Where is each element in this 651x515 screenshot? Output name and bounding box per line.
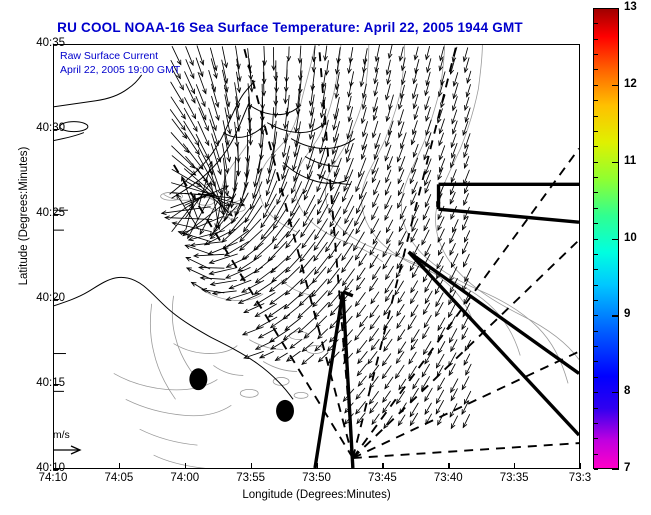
current-vector bbox=[359, 158, 366, 177]
current-vector bbox=[438, 243, 444, 255]
map-canvas bbox=[54, 45, 579, 468]
colorbar-minor-tick bbox=[594, 423, 598, 424]
current-vector bbox=[254, 242, 273, 260]
current-vector bbox=[315, 219, 328, 240]
current-vector bbox=[356, 388, 365, 399]
current-vector bbox=[201, 278, 225, 279]
current-vector bbox=[369, 329, 378, 342]
current-vector bbox=[286, 255, 302, 273]
current-vector bbox=[304, 180, 313, 200]
current-vector bbox=[451, 340, 457, 352]
current-vector bbox=[396, 352, 403, 363]
x-tick-mark bbox=[382, 463, 383, 469]
x-tick-label: 74:10 bbox=[23, 472, 83, 484]
y-tick-mark bbox=[53, 214, 59, 215]
x-tick-label: 74:05 bbox=[89, 472, 149, 484]
current-vector bbox=[438, 413, 444, 424]
current-vector bbox=[371, 219, 379, 234]
colorbar-tick-mark bbox=[612, 162, 619, 163]
colorbar-minor-tick bbox=[594, 239, 598, 240]
current-vector bbox=[331, 217, 341, 234]
current-vector bbox=[448, 316, 455, 329]
current-vector bbox=[438, 341, 445, 353]
current-vector bbox=[373, 231, 380, 244]
current-vector bbox=[462, 318, 468, 330]
current-vector bbox=[262, 110, 263, 134]
current-vector bbox=[369, 391, 378, 403]
x-tick-mark bbox=[251, 463, 252, 469]
current-vector bbox=[259, 328, 277, 338]
current-vector bbox=[462, 328, 468, 339]
current-vector bbox=[448, 304, 455, 317]
colorbar-minor-tick bbox=[594, 69, 598, 70]
current-vector bbox=[385, 196, 391, 209]
current-vector bbox=[451, 254, 458, 268]
current-vector bbox=[316, 316, 327, 327]
current-vector bbox=[300, 255, 314, 272]
current-vector bbox=[425, 388, 432, 401]
current-vector bbox=[185, 72, 195, 94]
current-vector bbox=[196, 134, 208, 158]
current-vector bbox=[411, 193, 416, 205]
current-vector bbox=[425, 403, 431, 414]
colorbar-tick-mark bbox=[612, 315, 619, 316]
current-vector bbox=[186, 84, 195, 103]
colorbar-minor-tick bbox=[594, 100, 598, 101]
colorbar-minor-tick bbox=[594, 469, 598, 470]
current-vector bbox=[209, 158, 222, 195]
current-vector bbox=[382, 366, 391, 379]
current-vector bbox=[383, 244, 390, 257]
plot-area[interactable]: Raw Surface Current April 22, 2005 19:00… bbox=[53, 44, 580, 469]
current-vector bbox=[356, 402, 366, 414]
current-vector bbox=[411, 281, 418, 293]
current-vector bbox=[374, 181, 380, 195]
colorbar-minor-tick bbox=[594, 254, 598, 255]
current-vector bbox=[368, 352, 377, 364]
current-vector bbox=[226, 293, 250, 300]
current-vector bbox=[463, 254, 469, 266]
colorbar-minor-tick bbox=[594, 377, 598, 378]
current-vector bbox=[463, 414, 469, 427]
current-vector bbox=[332, 183, 341, 203]
current-vector bbox=[397, 304, 404, 315]
current-vector bbox=[438, 229, 444, 242]
current-vector bbox=[425, 291, 432, 303]
radar-beam-solid-lines bbox=[315, 184, 579, 468]
current-vector bbox=[370, 255, 378, 268]
current-vector bbox=[371, 339, 379, 350]
current-vector bbox=[451, 416, 457, 428]
x-tick-mark bbox=[317, 463, 318, 469]
current-vector bbox=[383, 401, 391, 412]
colorbar-minor-tick bbox=[594, 346, 598, 347]
current-vector bbox=[271, 257, 288, 273]
current-vector bbox=[186, 257, 210, 268]
x-tick-label: 73:3 bbox=[550, 472, 610, 484]
current-vector bbox=[212, 96, 219, 120]
page-title: RU COOL NOAA-16 Sea Surface Temperature:… bbox=[0, 20, 580, 35]
current-vector bbox=[398, 415, 405, 425]
colorbar-tick-label: 9 bbox=[624, 308, 630, 320]
current-vector bbox=[209, 268, 236, 274]
x-tick-label: 74:00 bbox=[155, 472, 215, 484]
current-vector bbox=[422, 230, 429, 245]
current-vector bbox=[225, 242, 249, 256]
current-vector bbox=[314, 232, 326, 250]
x-tick-label: 73:45 bbox=[352, 472, 412, 484]
current-vector bbox=[313, 267, 326, 283]
current-vector bbox=[355, 327, 365, 340]
current-vector bbox=[270, 291, 287, 304]
scale-legend-label: 50 cm/s bbox=[53, 429, 85, 441]
colorbar-tick-mark bbox=[612, 469, 619, 470]
current-vector bbox=[384, 339, 392, 351]
current-vector bbox=[261, 220, 277, 239]
current-vector bbox=[436, 390, 443, 403]
current-vector bbox=[370, 305, 379, 317]
current-vector bbox=[211, 181, 219, 229]
current-vector bbox=[423, 327, 430, 338]
colorbar-minor-tick bbox=[594, 315, 598, 316]
x-tick-label: 73:55 bbox=[221, 472, 281, 484]
colorbar-minor-tick bbox=[594, 54, 598, 55]
current-vector bbox=[413, 244, 419, 256]
y-tick-mark bbox=[53, 384, 59, 385]
colorbar-minor-tick bbox=[594, 285, 598, 286]
colorbar-tick-label: 11 bbox=[624, 155, 636, 167]
colorbar-tick-label: 10 bbox=[624, 232, 637, 244]
current-vector bbox=[409, 352, 416, 364]
current-vector bbox=[196, 96, 206, 119]
colorbar-minor-tick bbox=[594, 131, 598, 132]
current-vector bbox=[464, 170, 470, 184]
current-vector bbox=[235, 182, 248, 216]
colorbar-minor-tick bbox=[594, 177, 598, 178]
y-tick-label: 40:15 bbox=[19, 377, 65, 389]
current-vector bbox=[302, 342, 313, 351]
current-vector bbox=[360, 182, 368, 199]
current-vector bbox=[358, 352, 367, 364]
current-vector bbox=[360, 316, 368, 326]
x-tick-mark bbox=[119, 463, 120, 469]
current-vector bbox=[191, 282, 210, 293]
colorbar-minor-tick bbox=[594, 39, 598, 40]
x-tick-mark bbox=[580, 463, 581, 469]
current-vector bbox=[383, 391, 391, 402]
current-vector bbox=[399, 232, 406, 246]
x-tick-label: 73:40 bbox=[418, 472, 478, 484]
current-vector bbox=[412, 158, 418, 173]
colorbar-minor-tick bbox=[594, 162, 598, 163]
current-vector bbox=[223, 158, 227, 196]
x-tick-label: 73:35 bbox=[484, 472, 544, 484]
current-vector bbox=[382, 354, 390, 366]
colorbar-minor-tick bbox=[594, 361, 598, 362]
current-vector bbox=[424, 315, 431, 327]
current-vector bbox=[387, 232, 393, 244]
current-vector bbox=[184, 108, 197, 131]
y-tick-mark bbox=[53, 129, 59, 130]
current-vector bbox=[268, 304, 286, 317]
colorbar-minor-tick bbox=[594, 116, 598, 117]
colorbar-tick-mark bbox=[612, 85, 619, 86]
current-vector bbox=[208, 242, 237, 254]
current-vector bbox=[437, 366, 443, 377]
current-vector bbox=[386, 266, 394, 279]
current-vector bbox=[357, 340, 367, 353]
current-vector bbox=[371, 292, 379, 304]
current-vector bbox=[437, 256, 443, 268]
current-vector bbox=[424, 219, 429, 231]
current-vector bbox=[254, 229, 274, 250]
current-vector bbox=[397, 316, 405, 328]
current-vector bbox=[308, 159, 315, 179]
current-vector bbox=[383, 255, 391, 268]
current-vector bbox=[385, 145, 391, 161]
current-vector bbox=[357, 305, 366, 317]
radar-beam-dashed-lines bbox=[174, 45, 579, 458]
colorbar-minor-tick bbox=[594, 223, 598, 224]
current-vector bbox=[413, 379, 419, 389]
current-vector bbox=[357, 364, 366, 376]
current-vector bbox=[372, 158, 378, 174]
current-vector bbox=[423, 303, 429, 314]
current-vector bbox=[411, 330, 419, 343]
current-vector bbox=[422, 364, 429, 377]
current-vector bbox=[211, 280, 237, 284]
current-vector bbox=[227, 257, 249, 268]
current-vector bbox=[358, 376, 366, 386]
x-tick-mark bbox=[53, 463, 54, 469]
current-vector bbox=[425, 194, 430, 206]
y-tick-mark bbox=[53, 44, 59, 45]
colorbar-minor-tick bbox=[594, 85, 598, 86]
current-vector bbox=[386, 220, 392, 232]
scale-legend: 50 cm/s bbox=[53, 429, 85, 460]
colorbar-minor-tick bbox=[594, 208, 598, 209]
colorbar-minor-tick bbox=[594, 454, 598, 455]
current-vector bbox=[369, 278, 377, 290]
colorbar-minor-tick bbox=[594, 331, 598, 332]
current-vector bbox=[450, 243, 455, 254]
current-vector bbox=[282, 267, 300, 284]
current-vector bbox=[185, 245, 211, 254]
current-vector bbox=[357, 268, 365, 280]
x-tick-mark bbox=[448, 463, 449, 469]
colorbar-tick-mark bbox=[612, 8, 619, 9]
colorbar-minor-tick bbox=[594, 300, 598, 301]
colorbar-tick-label: 12 bbox=[624, 78, 637, 90]
colorbar-minor-tick bbox=[594, 192, 598, 193]
colorbar-minor-tick bbox=[594, 269, 598, 270]
current-vector bbox=[370, 377, 378, 388]
current-vector bbox=[411, 291, 418, 303]
current-vector bbox=[301, 218, 313, 237]
current-vector bbox=[449, 329, 456, 343]
current-vector bbox=[355, 206, 365, 226]
colorbar-minor-tick bbox=[594, 23, 598, 24]
current-vector bbox=[372, 267, 380, 279]
current-vector bbox=[212, 84, 219, 107]
current-vector bbox=[261, 121, 262, 148]
colorbar-tick-mark bbox=[612, 239, 619, 240]
current-vector bbox=[425, 279, 432, 292]
current-vector bbox=[398, 330, 405, 341]
current-vector bbox=[438, 378, 445, 390]
current-vector bbox=[343, 269, 355, 286]
current-vector bbox=[370, 316, 380, 329]
current-vector bbox=[291, 192, 303, 216]
current-vector bbox=[187, 268, 212, 279]
bathymetry-contours bbox=[114, 45, 579, 468]
current-vector bbox=[372, 207, 378, 220]
current-vector bbox=[423, 207, 429, 220]
current-vector bbox=[172, 46, 181, 64]
colorbar-minor-tick bbox=[594, 408, 598, 409]
surface-current-vectors bbox=[162, 45, 471, 428]
colorbar-minor-tick bbox=[594, 8, 598, 9]
current-vector bbox=[398, 292, 405, 303]
colorbar-tick-label: 13 bbox=[624, 1, 637, 13]
colorbar-minor-tick bbox=[594, 392, 598, 393]
current-vector bbox=[264, 46, 265, 65]
current-vector bbox=[398, 193, 404, 207]
current-vector bbox=[229, 280, 251, 288]
colorbar-tick-label: 7 bbox=[624, 462, 630, 474]
colorbar-minor-tick bbox=[594, 146, 598, 147]
current-vector bbox=[395, 365, 404, 378]
x-axis-label: Longitude (Degrees:Minutes) bbox=[53, 489, 580, 501]
current-vector bbox=[331, 169, 340, 191]
current-vector bbox=[288, 206, 299, 225]
y-tick-mark bbox=[53, 469, 59, 470]
current-vector bbox=[359, 254, 367, 266]
current-vector bbox=[372, 414, 379, 424]
current-vector bbox=[199, 267, 224, 268]
current-vector bbox=[438, 318, 445, 330]
current-vector bbox=[411, 305, 418, 317]
colorbar-minor-tick bbox=[594, 438, 598, 439]
current-vector bbox=[408, 316, 416, 330]
current-vector bbox=[275, 353, 287, 360]
current-vector bbox=[260, 352, 274, 358]
current-vector bbox=[464, 354, 470, 365]
x-tick-label: 73:50 bbox=[287, 472, 347, 484]
current-vector bbox=[345, 158, 353, 180]
y-tick-label: 40:35 bbox=[19, 37, 65, 49]
current-vector bbox=[302, 355, 314, 365]
current-vector bbox=[291, 170, 300, 193]
current-vector bbox=[355, 293, 365, 307]
current-vector bbox=[370, 403, 378, 414]
current-vector bbox=[385, 377, 393, 389]
current-vector bbox=[466, 364, 471, 375]
colorbar-tick-mark bbox=[612, 392, 619, 393]
colorbar-tick-label: 8 bbox=[624, 385, 630, 397]
current-vector bbox=[173, 71, 183, 90]
x-tick-mark bbox=[514, 463, 515, 469]
right-arrow-icon bbox=[53, 443, 85, 457]
current-vector bbox=[451, 206, 457, 219]
x-tick-mark bbox=[185, 463, 186, 469]
current-vector bbox=[398, 342, 405, 353]
current-vector bbox=[462, 377, 469, 390]
y-tick-mark bbox=[53, 299, 59, 300]
current-vector bbox=[290, 340, 301, 349]
y-axis-label: Latitude (Degrees:Minutes) bbox=[18, 106, 30, 326]
current-vector bbox=[373, 194, 379, 207]
